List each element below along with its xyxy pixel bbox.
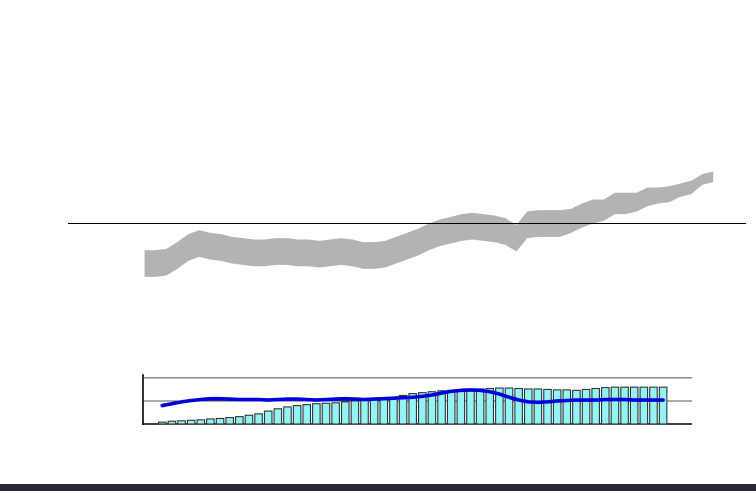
inset-bar	[573, 390, 581, 424]
inset-bar	[187, 420, 195, 424]
inset-bar	[361, 401, 369, 425]
bottom-edge-bar	[0, 484, 756, 491]
inset-bar	[447, 390, 455, 424]
inset-bar	[611, 387, 619, 424]
inset-bar	[197, 420, 205, 424]
inset-bar	[602, 388, 610, 424]
inset-bar	[178, 421, 186, 424]
inset-bar	[390, 397, 398, 424]
inset-bar	[659, 387, 667, 424]
inset-bar	[640, 387, 648, 424]
inset-bar	[264, 411, 272, 424]
inset-bar	[582, 389, 590, 424]
inset-bar	[351, 401, 359, 424]
inset-bar	[342, 402, 350, 424]
inset-bar	[544, 389, 552, 424]
inset-bar	[525, 389, 533, 424]
inset-bar	[438, 391, 446, 424]
inset-bar	[553, 390, 561, 424]
inset-bar	[207, 419, 215, 424]
inset-bar	[380, 399, 388, 424]
inset-bar	[255, 414, 263, 424]
inset-bar	[303, 405, 311, 424]
inset-bar	[274, 409, 282, 424]
inset-bar	[332, 403, 340, 424]
inset-bar	[476, 389, 484, 424]
inset-bar	[226, 418, 234, 424]
ocean-heat-content-chart	[0, 0, 756, 491]
inset-bar	[563, 390, 571, 424]
inset-bar	[370, 400, 378, 424]
inset-bar	[322, 403, 330, 424]
inset-bar	[515, 389, 523, 424]
inset-bar	[168, 421, 176, 424]
inset-bar	[284, 407, 292, 424]
inset-bar	[216, 418, 224, 424]
inset-bar	[457, 390, 465, 424]
inset-bar	[505, 388, 513, 424]
inset-bar	[592, 389, 600, 424]
inset-bar	[236, 417, 244, 424]
inset-bar	[313, 404, 321, 424]
inset-bar	[630, 387, 638, 424]
inset-bar	[621, 387, 629, 424]
inset-bar	[293, 406, 301, 424]
figure-root	[0, 0, 756, 491]
inset-bar	[650, 387, 658, 424]
inset-bar	[245, 415, 253, 424]
inset-bar	[399, 395, 407, 424]
inset-bar	[534, 389, 542, 424]
inset-bar	[159, 422, 167, 424]
inset-bar	[467, 389, 475, 424]
